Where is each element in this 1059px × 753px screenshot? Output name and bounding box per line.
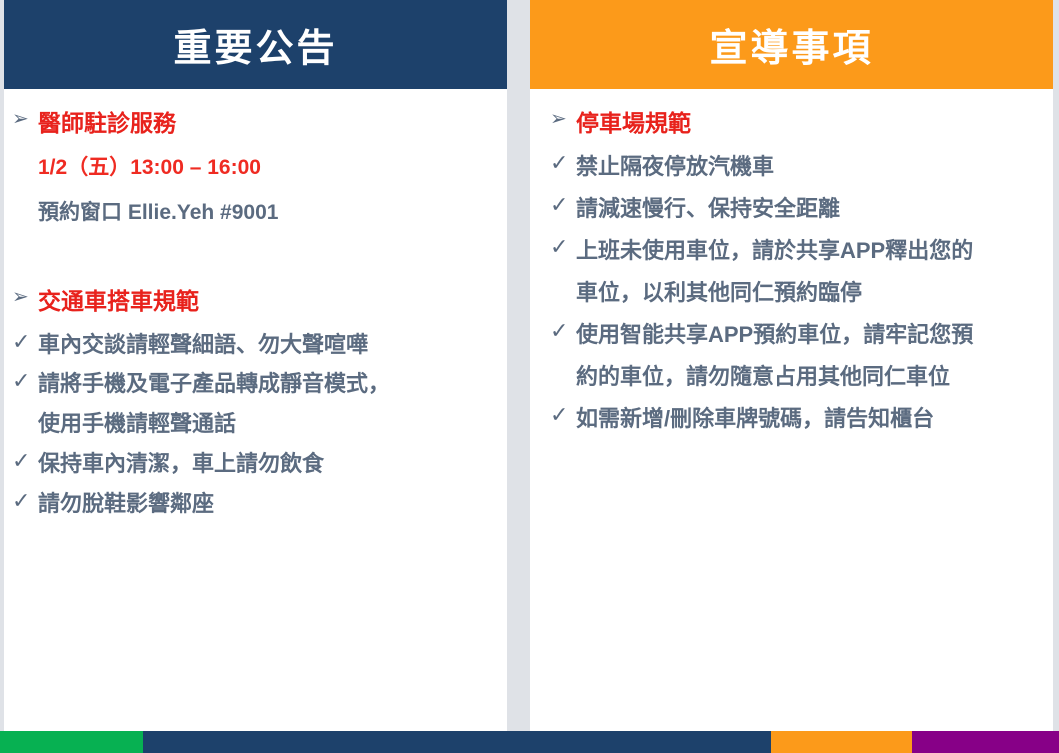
section-line-row: 預約窗口 Ellie.Yeh #9001 [4, 191, 507, 235]
arrow-bullet-icon: ➢ [530, 105, 576, 134]
list-item: ✓ 請減速慢行、保持安全距離 [530, 188, 1053, 230]
bar-segment-orange [771, 731, 912, 753]
right-panel-body: ➢ 停車場規範 ✓ 禁止隔夜停放汽機車 ✓ 請減速慢行、保持安全距離 ✓ 上班未… [530, 89, 1053, 731]
list-item: ✓ 請將手機及電子產品轉成靜音模式， [4, 364, 507, 404]
check-bullet-icon: ✓ [530, 231, 576, 263]
check-bullet-icon: ✓ [4, 485, 38, 517]
list-item: ✓ 請勿脫鞋影響鄰座 [4, 484, 507, 524]
check-bullet-icon: ✓ [4, 445, 38, 477]
section-heading: 醫師駐診服務 [38, 103, 507, 146]
list-item-label: 如需新增/刪除車牌號碼，請告知櫃台 [576, 398, 1053, 440]
list-item: ✓ 保持車內清潔，車上請勿飲食 [4, 444, 507, 484]
check-bullet-icon: ✓ [530, 189, 576, 221]
two-column-layout: 重要公告 ➢ 醫師駐診服務 1/2（五）13:00 – 16:00 預約窗口 E… [0, 0, 1059, 731]
left-panel-header: 重要公告 [4, 0, 507, 89]
list-item-continuation: 約的車位，請勿隨意占用其他同仁車位 [530, 356, 1053, 398]
bar-segment-green [0, 731, 143, 753]
section-heading-row: ➢ 停車場規範 [530, 103, 1053, 146]
column-gap [507, 0, 530, 731]
section-heading-row: ➢ 交通車搭車規範 [4, 281, 507, 324]
check-bullet-icon: ✓ [4, 326, 38, 358]
arrow-bullet-icon: ➢ [4, 105, 38, 134]
check-bullet-icon: ✓ [530, 315, 576, 347]
list-item-continuation: 車位，以利其他同仁預約臨停 [530, 272, 1053, 314]
clinic-schedule-text: 1/2（五）13:00 – 16:00 [38, 146, 507, 190]
list-item-label: 請將手機及電子產品轉成靜音模式， [38, 364, 507, 404]
section-heading: 交通車搭車規範 [38, 281, 507, 324]
list-item-label: 保持車內清潔，車上請勿飲食 [38, 444, 507, 484]
right-panel-header: 宣導事項 [530, 0, 1053, 89]
list-item: ✓ 上班未使用車位，請於共享APP釋出您的 [530, 230, 1053, 272]
list-item-label: 車位，以利其他同仁預約臨停 [576, 272, 1053, 314]
list-item: ✓ 使用智能共享APP預約車位，請牢記您預 [530, 314, 1053, 356]
check-bullet-icon: ✓ [530, 147, 576, 179]
check-bullet-icon: ✓ [530, 399, 576, 431]
section-line-row: 1/2（五）13:00 – 16:00 [4, 146, 507, 190]
bar-segment-navy [143, 731, 771, 753]
left-panel-title: 重要公告 [173, 17, 337, 72]
section-heading-row: ➢ 醫師駐診服務 [4, 103, 507, 146]
list-item-label: 約的車位，請勿隨意占用其他同仁車位 [576, 356, 1053, 398]
right-panel-title: 宣導事項 [709, 17, 873, 72]
list-item-continuation: 使用手機請輕聲通話 [4, 404, 507, 444]
section-doctor-service: ➢ 醫師駐診服務 1/2（五）13:00 – 16:00 預約窗口 Ellie.… [4, 103, 507, 235]
list-item: ✓ 車內交談請輕聲細語、勿大聲喧嘩 [4, 325, 507, 365]
section-spacer [4, 235, 507, 281]
list-item: ✓ 如需新增/刪除車牌號碼，請告知櫃台 [530, 398, 1053, 440]
list-item-label: 禁止隔夜停放汽機車 [576, 146, 1053, 188]
arrow-bullet-icon: ➢ [4, 283, 38, 312]
section-heading: 停車場規範 [576, 103, 1053, 146]
list-item-label: 使用智能共享APP預約車位，請牢記您預 [576, 314, 1053, 356]
section-shuttle-rules: ➢ 交通車搭車規範 ✓ 車內交談請輕聲細語、勿大聲喧嘩 ✓ 請將手機及電子產品轉… [4, 281, 507, 524]
right-panel: 宣導事項 ➢ 停車場規範 ✓ 禁止隔夜停放汽機車 ✓ 請減速慢行、保持安全距離 … [530, 0, 1059, 731]
section-parking-rules: ➢ 停車場規範 ✓ 禁止隔夜停放汽機車 ✓ 請減速慢行、保持安全距離 ✓ 上班未… [530, 103, 1053, 440]
list-item-label: 使用手機請輕聲通話 [38, 404, 507, 444]
bottom-color-bar [0, 731, 1059, 753]
list-item-label: 請減速慢行、保持安全距離 [576, 188, 1053, 230]
list-item: ✓ 禁止隔夜停放汽機車 [530, 146, 1053, 188]
list-item-label: 請勿脫鞋影響鄰座 [38, 484, 507, 524]
list-item-label: 上班未使用車位，請於共享APP釋出您的 [576, 230, 1053, 272]
left-panel: 重要公告 ➢ 醫師駐診服務 1/2（五）13:00 – 16:00 預約窗口 E… [0, 0, 507, 731]
check-bullet-icon: ✓ [4, 365, 38, 397]
booking-contact-text: 預約窗口 Ellie.Yeh #9001 [38, 191, 507, 235]
list-item-label: 車內交談請輕聲細語、勿大聲喧嘩 [38, 325, 507, 365]
left-panel-body: ➢ 醫師駐診服務 1/2（五）13:00 – 16:00 預約窗口 Ellie.… [4, 89, 507, 731]
bar-segment-purple [912, 731, 1059, 753]
